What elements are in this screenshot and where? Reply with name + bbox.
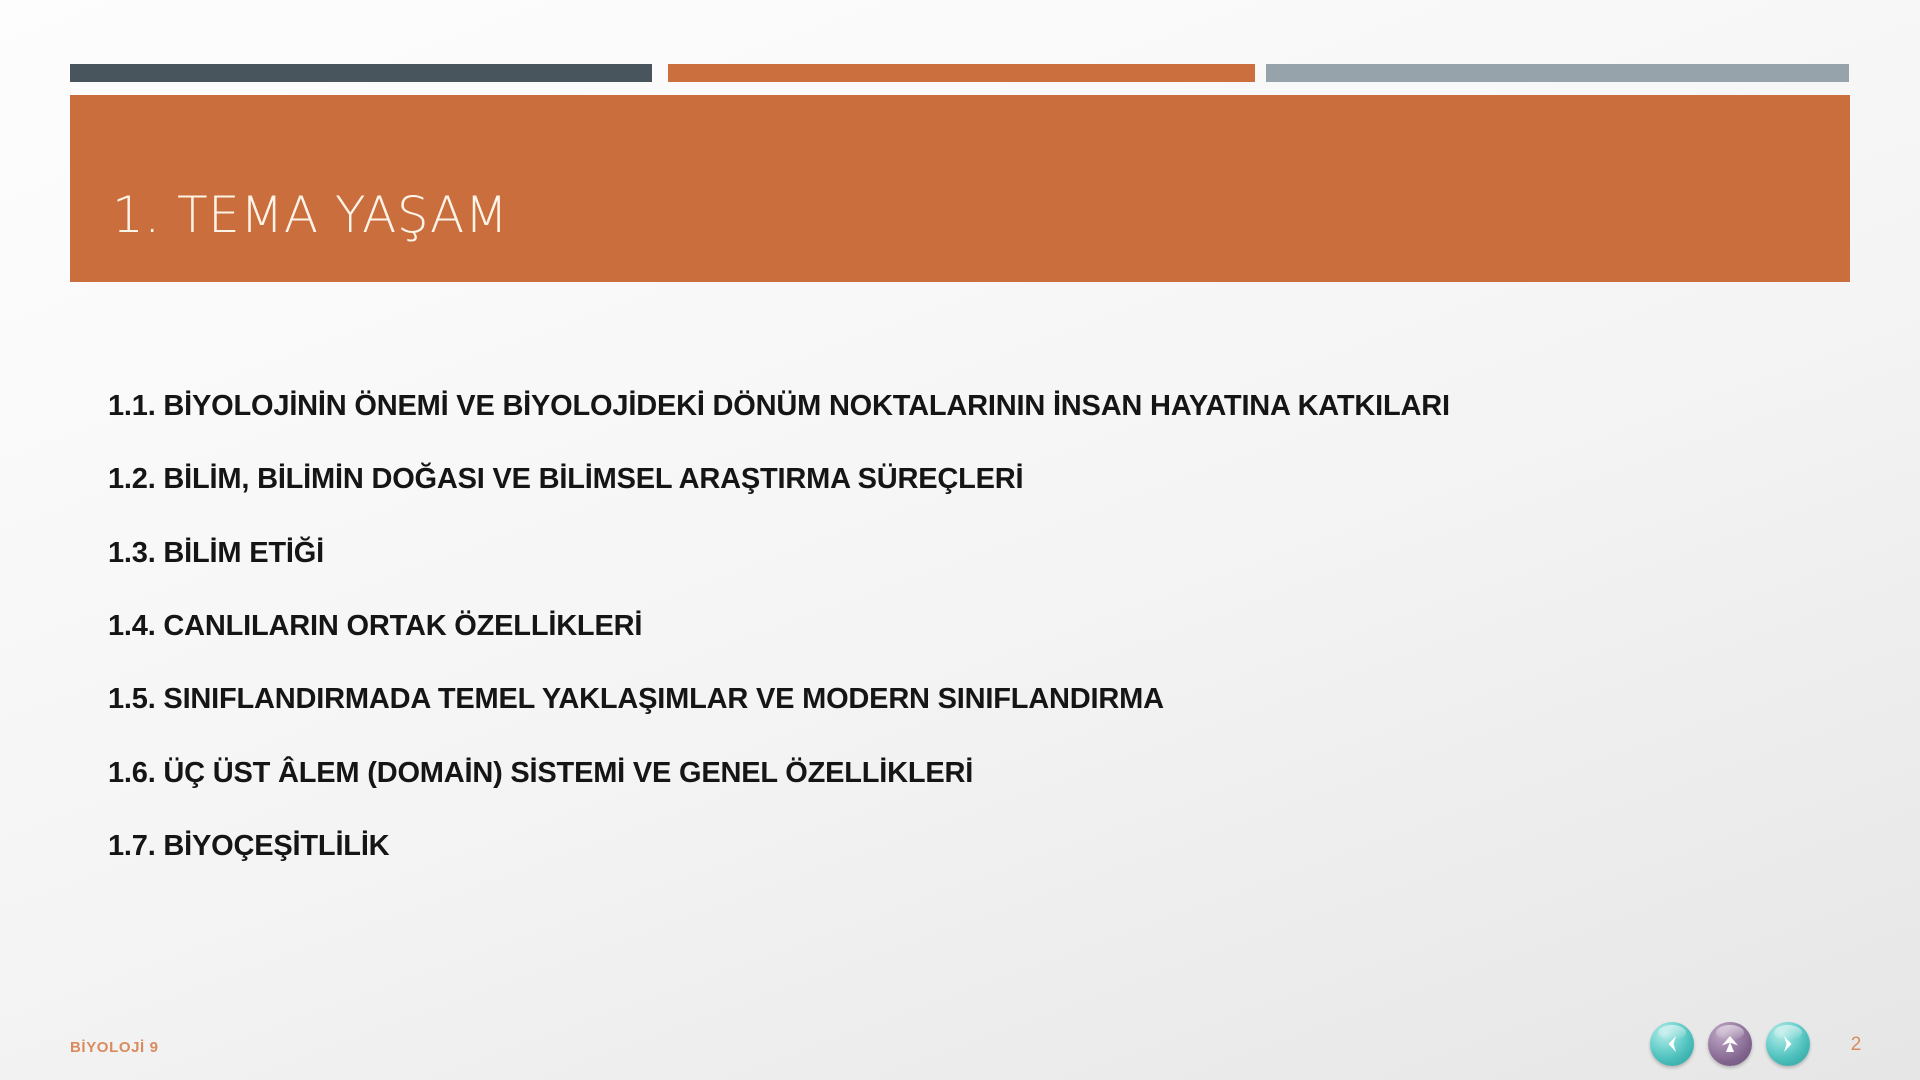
- arrow-left-icon: [1661, 1033, 1683, 1055]
- next-slide-button[interactable]: Sonraki: [1766, 1022, 1810, 1066]
- top-bar-gray: [1266, 64, 1849, 82]
- list-item: 1.1. BİYOLOJİNİN ÖNEMİ VE BİYOLOJİDEKİ D…: [108, 390, 1848, 423]
- top-bar-accent: [668, 64, 1255, 82]
- list-item: 1.2. BİLİM, BİLİMİN DOĞASI VE BİLİMSEL A…: [108, 463, 1848, 496]
- arrow-right-icon: [1777, 1033, 1799, 1055]
- slide-root: 1. TEMA YAŞAM 1.1. BİYOLOJİNİN ÖNEMİ VE …: [0, 0, 1920, 1080]
- list-item: 1.4. CANLILARIN ORTAK ÖZELLİKLERİ: [108, 610, 1848, 643]
- slide-navigation: Önceki Başa dön Sonraki: [1650, 1022, 1810, 1066]
- list-item: 1.5. SINIFLANDIRMADA TEMEL YAKLAŞIMLAR V…: [108, 683, 1848, 716]
- top-decorative-bars: [0, 64, 1920, 82]
- topic-list: 1.1. BİYOLOJİNİN ÖNEMİ VE BİYOLOJİDEKİ D…: [108, 390, 1848, 863]
- title-banner: 1. TEMA YAŞAM: [70, 95, 1850, 282]
- page-number: 2: [1844, 1034, 1868, 1056]
- page-title: 1. TEMA YAŞAM: [70, 186, 508, 282]
- top-bar-dark: [70, 64, 652, 82]
- list-item: 1.6. ÜÇ ÜST ÂLEM (DOMAİN) SİSTEMİ VE GEN…: [108, 757, 1848, 790]
- footer-course-label: BİYOLOJİ 9: [70, 1039, 159, 1056]
- arrow-up-icon: [1719, 1033, 1741, 1055]
- list-item: 1.3. BİLİM ETİĞİ: [108, 537, 1848, 570]
- home-slide-button[interactable]: Başa dön: [1708, 1022, 1752, 1066]
- list-item: 1.7. BİYOÇEŞİTLİLİK: [108, 830, 1848, 863]
- previous-slide-button[interactable]: Önceki: [1650, 1022, 1694, 1066]
